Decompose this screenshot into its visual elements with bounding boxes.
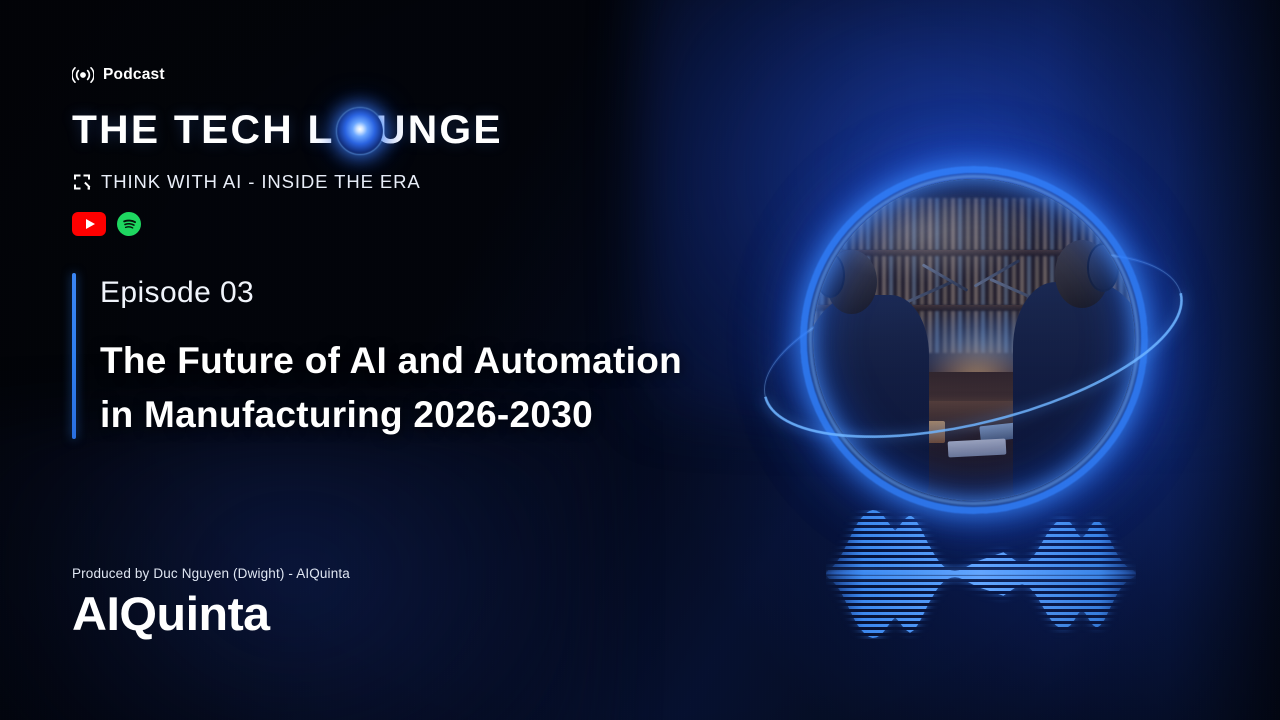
loop-brackets-icon (72, 172, 92, 192)
tagline-text: THINK WITH AI - INSIDE THE ERA (101, 171, 421, 193)
podcast-label: Podcast (103, 66, 165, 84)
wordmark-part-2: UNGE (376, 110, 503, 150)
youtube-icon[interactable] (72, 212, 106, 236)
episode-title-block: Episode 03 The Future of AI and Automati… (72, 272, 862, 441)
broadcast-icon (72, 66, 94, 84)
spotify-waves (121, 216, 138, 233)
play-triangle (86, 219, 95, 229)
social-links (72, 212, 692, 236)
show-wordmark: THE TECH L UNGE (72, 104, 692, 156)
accent-bar (72, 273, 76, 439)
podcast-badge: Podcast (72, 64, 692, 86)
episode-title: The Future of AI and Automation in Manuf… (100, 334, 862, 441)
wordmark-part-1: THE TECH L (72, 110, 335, 150)
channel-header: Podcast THE TECH L UNGE THINK WITH AI - … (72, 64, 692, 236)
episode-title-line-2: in Manufacturing 2026-2030 (100, 388, 862, 442)
producer-footer: Produced by Duc Nguyen (Dwight) - AIQuin… (72, 566, 592, 637)
episode-cover-canvas: Podcast THE TECH L UNGE THINK WITH AI - … (0, 0, 1280, 720)
produced-by-text: Produced by Duc Nguyen (Dwight) - AIQuin… (72, 566, 592, 581)
spotify-icon[interactable] (117, 212, 141, 236)
brand-logo-text: AIQuinta (72, 590, 608, 637)
episode-number: Episode 03 (100, 272, 862, 308)
episode-title-line-1: The Future of AI and Automation (100, 340, 682, 381)
tagline-row: THINK WITH AI - INSIDE THE ERA (72, 170, 692, 194)
